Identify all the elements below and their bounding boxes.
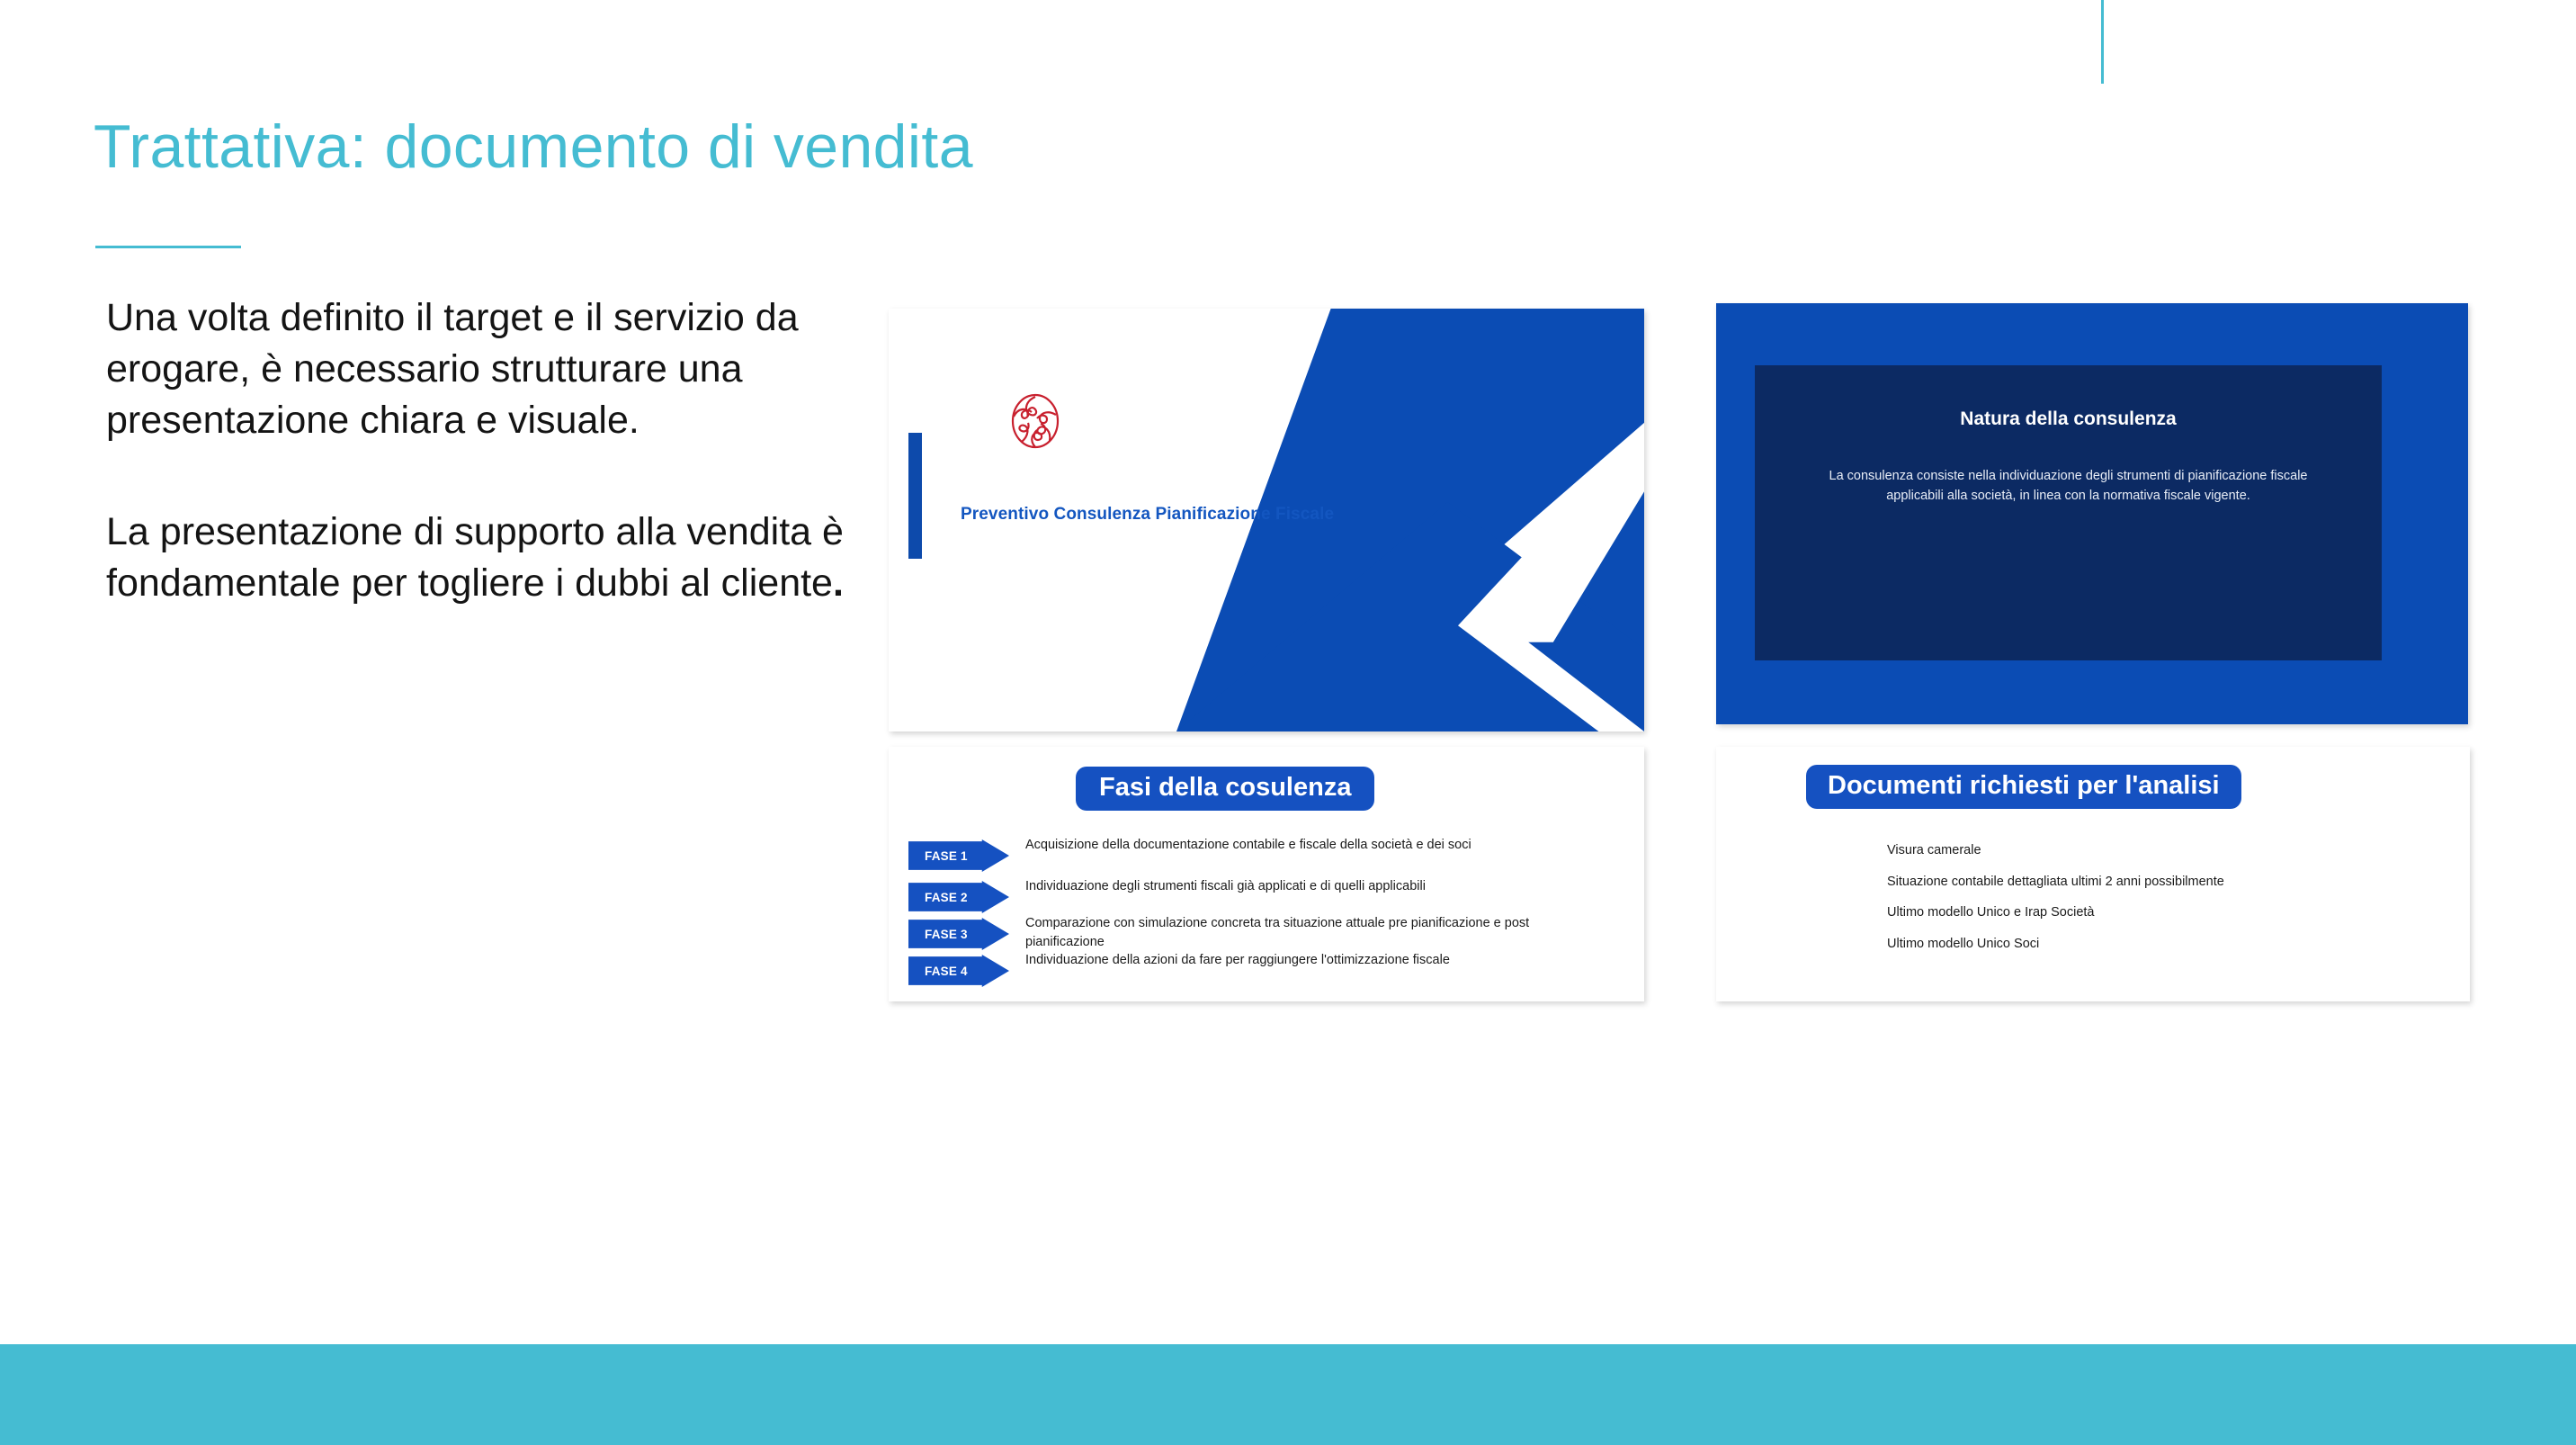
phase-row: FASE 1 Acquisizione della documentazione… [908, 839, 1628, 875]
abstract-circular-knot-logo-icon [1009, 391, 1061, 451]
natura-title: Natura della consulenza [1755, 408, 2382, 430]
body-paragraph-1: Una volta definito il target e il serviz… [106, 292, 862, 447]
documenti-title-pill: Documenti richiesti per l'analisi [1806, 765, 2241, 809]
bottom-accent-band [0, 1344, 2576, 1445]
fasi-title-pill: Fasi della cosulenza [1076, 767, 1374, 811]
phase-arrow-2: FASE 2 [908, 881, 1009, 913]
cover-caption: Preventivo Consulenza Pianificazione Fis… [961, 505, 1334, 525]
phase-text-3: Comparazione con simulazione concreta tr… [1025, 914, 1583, 951]
slide-thumbnail-cover[interactable]: Preventivo Consulenza Pianificazione Fis… [889, 309, 1644, 731]
phase-text-4: Individuazione della azioni da fare per … [1025, 951, 1583, 970]
phase-arrow-3: FASE 3 [908, 918, 1009, 950]
title-underline-rule [95, 246, 241, 248]
slide-thumbnail-natura[interactable]: Natura della consulenza La consulenza co… [1716, 303, 2468, 724]
phase-text-2: Individuazione degli strumenti fiscali g… [1025, 877, 1583, 896]
phase-row: FASE 2 Individuazione degli strumenti fi… [908, 881, 1628, 917]
documenti-list: Visura camerale Situazione contabile det… [1887, 844, 2427, 968]
top-right-accent-rule [2101, 0, 2104, 84]
page-title: Trattativa: documento di vendita [94, 115, 973, 179]
natura-inner-panel: Natura della consulenza La consulenza co… [1755, 365, 2382, 660]
phase-row: FASE 3 Comparazione con simulazione conc… [908, 918, 1628, 954]
slide-thumbnail-fasi[interactable]: Fasi della cosulenza FASE 1 Acquisizione… [889, 747, 1644, 1001]
body-paragraph-2-lead: La presentazione di supporto alla vendit… [106, 510, 844, 605]
body-copy: Una volta definito il target e il serviz… [106, 292, 862, 609]
list-item: Ultimo modello Unico Soci [1887, 938, 2427, 951]
natura-body-text: La consulenza consiste nella individuazi… [1820, 466, 2317, 507]
body-paragraph-2-period: . [833, 561, 844, 605]
phase-row: FASE 4 Individuazione della azioni da fa… [908, 955, 1628, 991]
phase-text-1: Acquisizione della documentazione contab… [1025, 836, 1583, 855]
phase-arrow-1: FASE 1 [908, 839, 1009, 872]
list-item: Ultimo modello Unico e Irap Società [1887, 906, 2427, 920]
body-paragraph-2: La presentazione di supporto alla vendit… [106, 507, 862, 609]
list-item: Situazione contabile dettagliata ultimi … [1887, 875, 2427, 889]
list-item: Visura camerale [1887, 844, 2427, 857]
cover-left-accent-bar [908, 433, 922, 559]
slide-thumbnail-documenti[interactable]: Documenti richiesti per l'analisi Visura… [1716, 747, 2470, 1001]
phase-arrow-4: FASE 4 [908, 955, 1009, 987]
